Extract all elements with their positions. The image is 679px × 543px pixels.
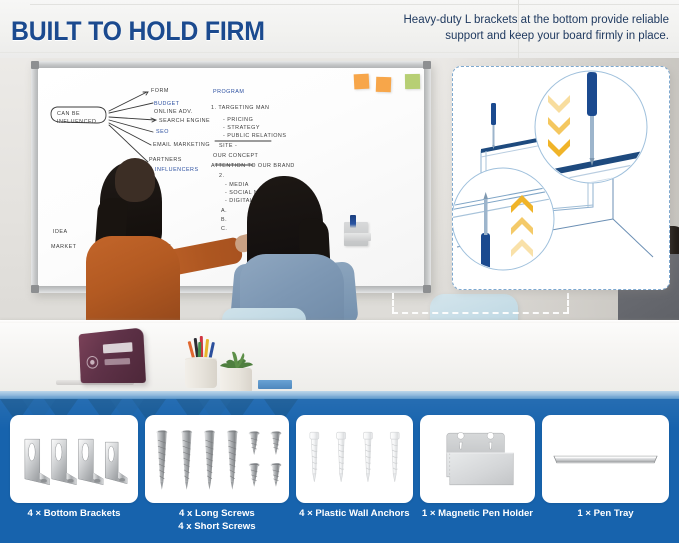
part-label-pen-tray: 1 × Pen Tray (542, 505, 669, 541)
laptop-sticker-1 (103, 342, 133, 353)
installation-diagram (453, 67, 668, 288)
part-label-line-1: 4 x Long Screws (145, 508, 289, 521)
laptop (79, 327, 146, 383)
bracket-callout-indicator (392, 293, 569, 317)
svg-text:IDEA: IDEA (53, 229, 68, 235)
svg-text:OUR CONCEPT: OUR CONCEPT (213, 153, 259, 159)
svg-text:CAN BE: CAN BE (57, 111, 80, 117)
svg-text:SITE -: SITE - (219, 143, 237, 149)
header-description-line-1: Heavy-duty L brackets at the bottom prov… (404, 14, 670, 26)
svg-text:ONLINE ADV.: ONLINE ADV. (154, 109, 193, 115)
whiteboard-corner-bottom-right (423, 285, 431, 293)
svg-text:2.: 2. (219, 173, 225, 179)
svg-text:FORM: FORM (151, 88, 169, 94)
whiteboard-frame-top (31, 61, 431, 68)
header-banner: BUILT TO HOLD FIRM Heavy-duty L brackets… (0, 0, 679, 58)
callout-right-tick (567, 293, 569, 313)
header-divider-bottom (0, 52, 679, 53)
part-label-screws: 4 x Long Screws 4 x Short Screws (145, 505, 289, 541)
person1-head (115, 158, 155, 202)
header-description: Heavy-duty L brackets at the bottom prov… (317, 12, 669, 44)
whiteboard-frame-left (31, 61, 38, 293)
orange-sticky-note-2 (376, 77, 392, 93)
svg-text:PROGRAM: PROGRAM (213, 89, 244, 95)
pen-tray-icon (542, 415, 669, 503)
svg-text:SEARCH ENGINE: SEARCH ENGINE (159, 118, 210, 124)
part-card-bottom-brackets[interactable] (10, 415, 138, 503)
part-card-pen-holder[interactable] (420, 415, 535, 503)
svg-text:MARKET: MARKET (51, 244, 77, 250)
screwdriver-small-left (491, 103, 496, 149)
svg-text:A.: A. (221, 208, 227, 214)
svg-text:C.: C. (221, 226, 227, 232)
part-card-pen-tray[interactable] (542, 415, 669, 503)
svg-text:- STRATEGY: - STRATEGY (223, 125, 260, 131)
svg-text:PARTNERS: PARTNERS (149, 157, 182, 163)
parts-label-row: 4 × Bottom Brackets 4 x Long Screws 4 x … (10, 505, 669, 541)
installation-diagram-panel (452, 66, 670, 290)
part-label-line-1: 1 × Pen Tray (542, 508, 669, 521)
screws-icon (145, 415, 289, 503)
laptop-logo (86, 356, 98, 369)
svg-text:- PRICING: - PRICING (223, 117, 253, 123)
page-title: BUILT TO HOLD FIRM (11, 16, 265, 46)
lifestyle-photo-scene: CAN BE INFLUENCED FORM BUDGET ONLINE ADV… (0, 58, 679, 391)
callout-dashed-line (392, 312, 569, 314)
orange-sticky-note-1 (354, 74, 370, 90)
whiteboard-marker (350, 215, 356, 228)
laptop-sticker-2 (104, 358, 130, 365)
wall-anchor-icon (296, 415, 413, 503)
svg-text:INFLUENCED: INFLUENCED (57, 119, 96, 125)
svg-text:BUDGET: BUDGET (154, 101, 180, 107)
svg-text:SEO: SEO (156, 129, 169, 135)
green-sticky-note (405, 74, 420, 89)
part-label-line-1: 4 × Plastic Wall Anchors (296, 508, 413, 521)
svg-text:INFLUENCERS: INFLUENCERS (155, 167, 199, 173)
header-divider-top (30, 4, 679, 5)
svg-text:- PUBLIC RELATIONS: - PUBLIC RELATIONS (223, 133, 286, 139)
callout-left-tick (392, 293, 394, 313)
part-card-screws[interactable] (145, 415, 289, 503)
infographic-page: BUILT TO HOLD FIRM Heavy-duty L brackets… (0, 0, 679, 543)
part-label-pen-holder: 1 × Magnetic Pen Holder (420, 505, 535, 541)
person1-torso (86, 236, 180, 328)
part-label-line-1: 1 × Magnetic Pen Holder (420, 508, 535, 521)
parts-list-band: 4 × Bottom Brackets 4 x Long Screws 4 x … (0, 391, 679, 543)
l-bracket-icon (10, 415, 138, 503)
notebook-on-table (258, 380, 292, 389)
part-label-line-2: 4 x Short Screws (145, 521, 289, 534)
table-edge-highlight (0, 320, 679, 323)
svg-text:B.: B. (221, 217, 227, 223)
svg-text:ATTENTION TO OUR BRAND: ATTENTION TO OUR BRAND (211, 163, 295, 169)
plant-pot (220, 368, 252, 391)
whiteboard-corner-top-left (31, 61, 39, 69)
whiteboard-corner-bottom-left (31, 285, 39, 293)
whiteboard-corner-top-right (423, 61, 431, 69)
svg-text:EMAIL MARKETING: EMAIL MARKETING (153, 142, 210, 148)
part-label-wall-anchors: 4 × Plastic Wall Anchors (296, 505, 413, 541)
part-card-wall-anchors[interactable] (296, 415, 413, 503)
header-description-line-2: support and keep your board firmly in pl… (445, 30, 669, 42)
svg-text:- MEDIA: - MEDIA (225, 182, 249, 188)
magnetic-pen-holder-icon (420, 415, 535, 503)
part-label-line-1: 4 × Bottom Brackets (10, 508, 138, 521)
mounted-pen-holder-lip (344, 233, 371, 241)
whiteboard-frame-right (424, 61, 431, 293)
parts-card-row (10, 415, 669, 503)
part-label-bottom-brackets: 4 × Bottom Brackets (10, 505, 138, 541)
svg-text:1. TARGETING MAN: 1. TARGETING MAN (211, 105, 269, 111)
